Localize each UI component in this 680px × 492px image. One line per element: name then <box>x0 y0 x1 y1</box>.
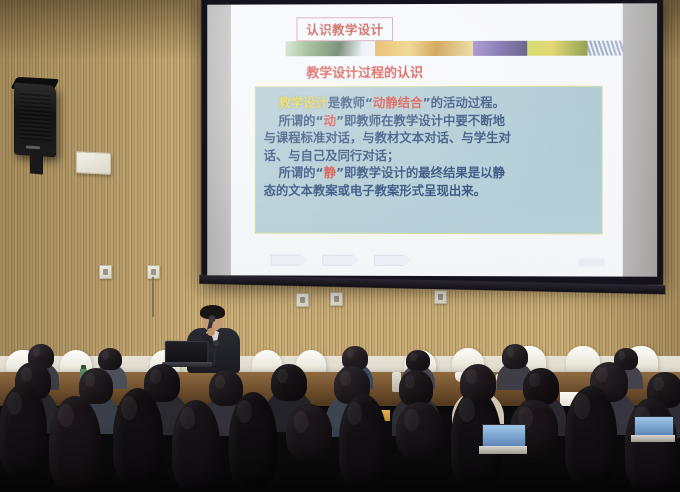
hair-highlight <box>150 369 161 384</box>
laptop-screen <box>634 416 674 436</box>
hair-highlight <box>459 398 475 422</box>
slide-text-panel: 教学设计是教师“动静结合”的活动过程。所谓的“动”即教师在教学设计中要不断地与课… <box>255 86 603 235</box>
audience-member <box>560 386 622 488</box>
hair-highlight <box>121 396 137 420</box>
hair-highlight <box>574 394 590 418</box>
seated-audience <box>0 366 680 492</box>
speaker-grille <box>19 91 51 141</box>
slide-subtitle: 教学设计过程的认识 <box>306 62 423 81</box>
decorative-photo-banner <box>286 41 642 57</box>
wall-outlet[interactable] <box>296 293 309 307</box>
audience-head <box>229 392 278 486</box>
audience-member <box>282 404 336 492</box>
slide-text-segment: 静 <box>324 165 336 180</box>
hair-highlight <box>58 404 74 427</box>
audience-member <box>44 396 106 492</box>
banner-segment-purple <box>473 41 527 56</box>
wall-outlet[interactable] <box>99 265 112 279</box>
slide-text-segment: 态的文本教案或电子教案形式呈现出来。 <box>264 182 486 197</box>
hair-highlight <box>618 351 625 360</box>
audience-head <box>286 404 331 460</box>
powerpoint-slide: 认识教学设计 教学设计过程的认识 教学设计是教师“动静结合”的活动过程。所谓的“… <box>231 3 623 276</box>
slide-header-title: 认识教学设计 <box>306 19 383 38</box>
audience-head <box>339 394 388 486</box>
slide-header-box: 认识教学设计 <box>296 17 393 41</box>
hair-highlight <box>7 392 22 415</box>
wall-outlet[interactable] <box>434 290 447 304</box>
audience-laptop <box>482 424 524 454</box>
audience-head <box>113 388 163 484</box>
speaker-badge <box>26 145 40 149</box>
laptop-screen <box>482 424 526 447</box>
lecture-hall-screenshot: 认识教学设计 教学设计过程的认识 教学设计是教师“动静结合”的活动过程。所谓的“… <box>0 0 680 492</box>
presenter-laptop <box>165 341 211 366</box>
hair-highlight <box>347 402 362 425</box>
slide-body-line: 教学设计是教师“动静结合”的活动过程。 <box>264 94 594 112</box>
audience-head <box>49 396 101 488</box>
hair-highlight <box>215 375 225 389</box>
slide-arrow-graphic <box>578 258 604 266</box>
audience-member <box>392 402 448 492</box>
wall-outlet[interactable] <box>147 265 160 279</box>
slide-body-line: 所谓的“静”即教学设计的最终结果是以静 <box>264 164 594 182</box>
laptop-keyboard <box>631 435 675 442</box>
slide-text-segment: ”即教学设计的最终结果是以静 <box>336 165 505 180</box>
audience-member <box>168 400 224 492</box>
audience-head <box>502 344 527 369</box>
slide-body-line: 所谓的“动”即教师在教学设计中要不断地 <box>264 111 594 129</box>
banner-segment-gap <box>361 41 375 56</box>
slide-body-line: 态的文本教案或电子教案形式呈现出来。 <box>264 181 594 199</box>
slide-arrow-graphic <box>374 255 404 266</box>
hair-highlight <box>237 400 252 424</box>
banner-segment-green <box>286 41 362 56</box>
projection-screen-frame: 认识教学设计 教学设计过程的认识 教学设计是教师“动静结合”的活动过程。所谓的“… <box>201 0 663 285</box>
hair-highlight <box>507 347 515 357</box>
wall-control-panel[interactable] <box>76 151 111 175</box>
audience-laptop <box>634 416 672 442</box>
banner-segment-yellow <box>527 41 587 56</box>
projection-screen-surface: 认识教学设计 教学设计过程的认识 教学设计是教师“动静结合”的活动过程。所谓的“… <box>207 3 657 276</box>
audience-member <box>108 388 168 488</box>
hair-highlight <box>21 367 32 382</box>
hair-highlight <box>33 347 41 357</box>
slide-text-segment: 是教师“ <box>328 95 373 110</box>
slide-arrow-graphic <box>271 255 301 266</box>
speaker-mount-bracket <box>30 151 43 174</box>
slide-text-segment: 动 <box>324 113 336 128</box>
slide-text-segment: ”即教师在教学设计中要不断地 <box>336 112 505 127</box>
slide-text-segment: 教学设计 <box>279 95 328 110</box>
audience-head <box>396 402 443 459</box>
audience-member <box>620 398 680 492</box>
audience-head <box>565 386 617 484</box>
screen-unlit-margin-right <box>623 3 657 276</box>
audience-member <box>334 394 392 490</box>
hair-highlight <box>653 377 664 391</box>
wall-outlet[interactable] <box>330 292 343 306</box>
audience-head <box>98 348 122 370</box>
slide-arrow-group <box>271 255 404 266</box>
slide-text-segment: 动静结合 <box>373 95 422 110</box>
audience-head <box>406 350 430 371</box>
slide-body-line: 与课程标准对话，与教材文本对话、与学生对 <box>264 129 594 147</box>
screen-unlit-margin-left <box>207 5 231 276</box>
wall-speaker <box>14 83 56 158</box>
slide-text-segment: 所谓的“ <box>279 165 324 180</box>
hair-highlight <box>340 371 351 386</box>
hair-highlight <box>85 373 95 387</box>
slide-arrow-graphic <box>322 255 352 266</box>
slide-text-segment: ”的活动过程。 <box>422 95 505 110</box>
slide-text-segment: 话、与自己及同行对话； <box>264 147 400 162</box>
presenter-hand <box>207 328 215 336</box>
slide-text-segment: 所谓的“ <box>279 113 324 128</box>
hair-highlight <box>294 411 308 433</box>
audience-member <box>224 392 282 490</box>
hair-highlight <box>466 369 477 384</box>
slide-body-line: 话、与自己及同行对话； <box>264 146 594 164</box>
wall-cable <box>152 277 154 317</box>
audience-head <box>399 370 433 406</box>
banner-segment-orange <box>375 41 473 56</box>
audience-head <box>625 398 677 490</box>
hair-highlight <box>102 351 109 360</box>
slide-text-segment: 与课程标准对话，与教材文本对话、与学生对 <box>264 130 511 145</box>
hair-highlight <box>405 375 415 389</box>
laptop-keyboard <box>479 446 527 454</box>
